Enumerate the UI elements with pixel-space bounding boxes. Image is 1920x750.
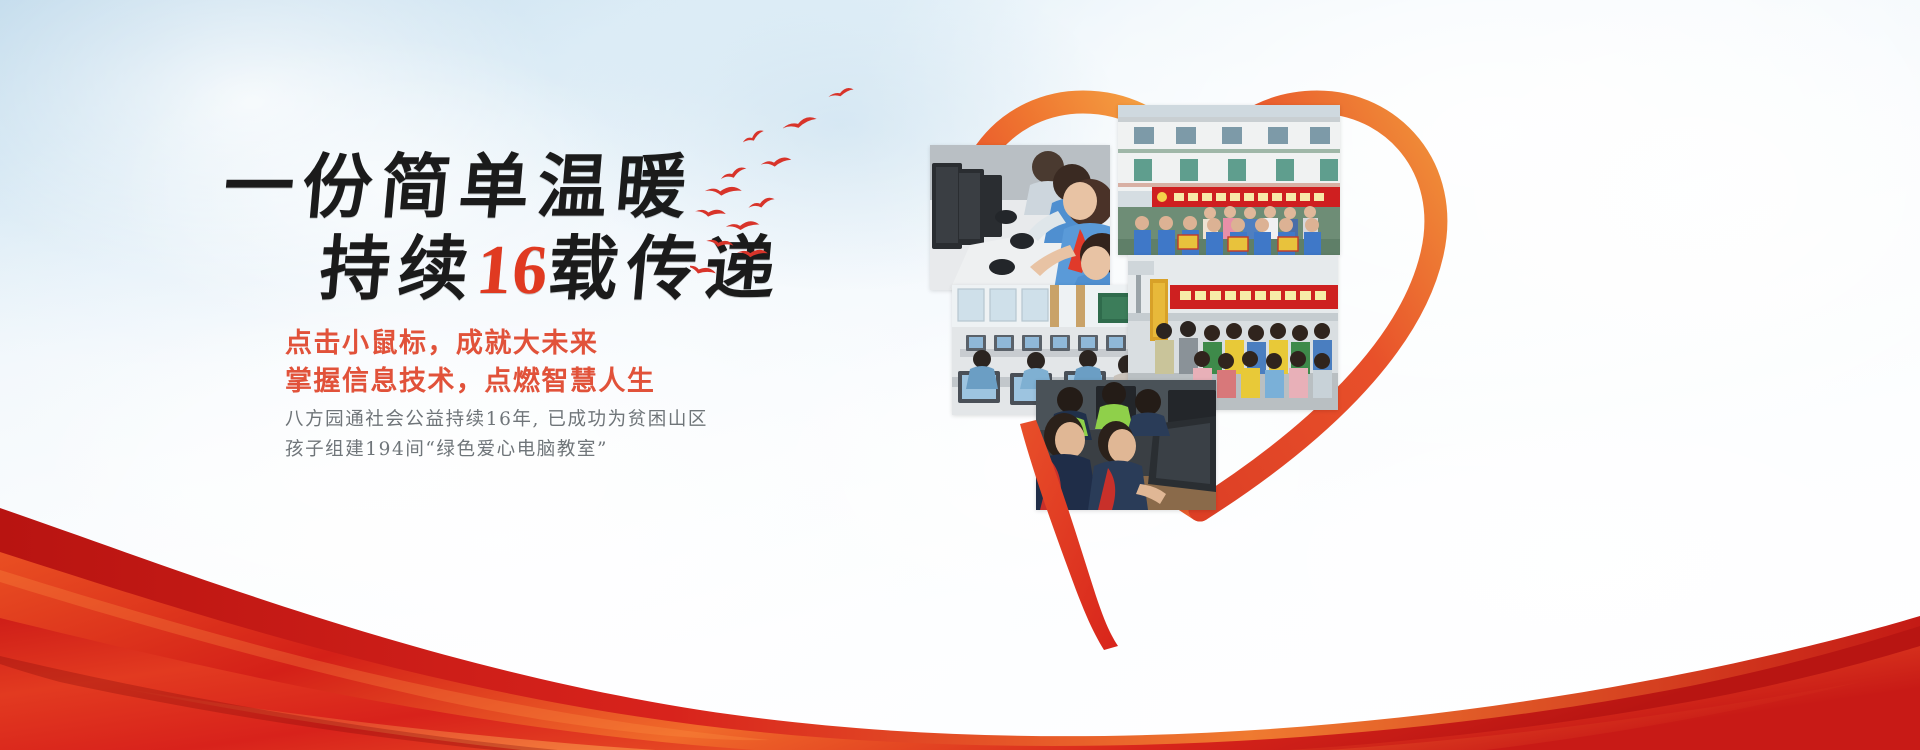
red-silk-ribbon-wave xyxy=(0,420,1920,750)
charity-banner: 一份简单温暖 持续16载传递 点击小鼠标，成就大未来 掌握信息技术，点燃智慧人生… xyxy=(0,0,1920,750)
subheading-line-1: 点击小鼠标，成就大未来 xyxy=(285,325,655,363)
photo-computer-lab-students xyxy=(930,145,1110,290)
headline-line-2-prefix: 持续 xyxy=(317,227,481,310)
subheading: 点击小鼠标，成就大未来 掌握信息技术，点燃智慧人生 xyxy=(285,325,655,402)
subheading-line-2: 掌握信息技术，点燃智慧人生 xyxy=(285,363,655,401)
photo-school-donation-ceremony xyxy=(1118,105,1340,255)
headline-years-number: 16 xyxy=(473,232,551,309)
